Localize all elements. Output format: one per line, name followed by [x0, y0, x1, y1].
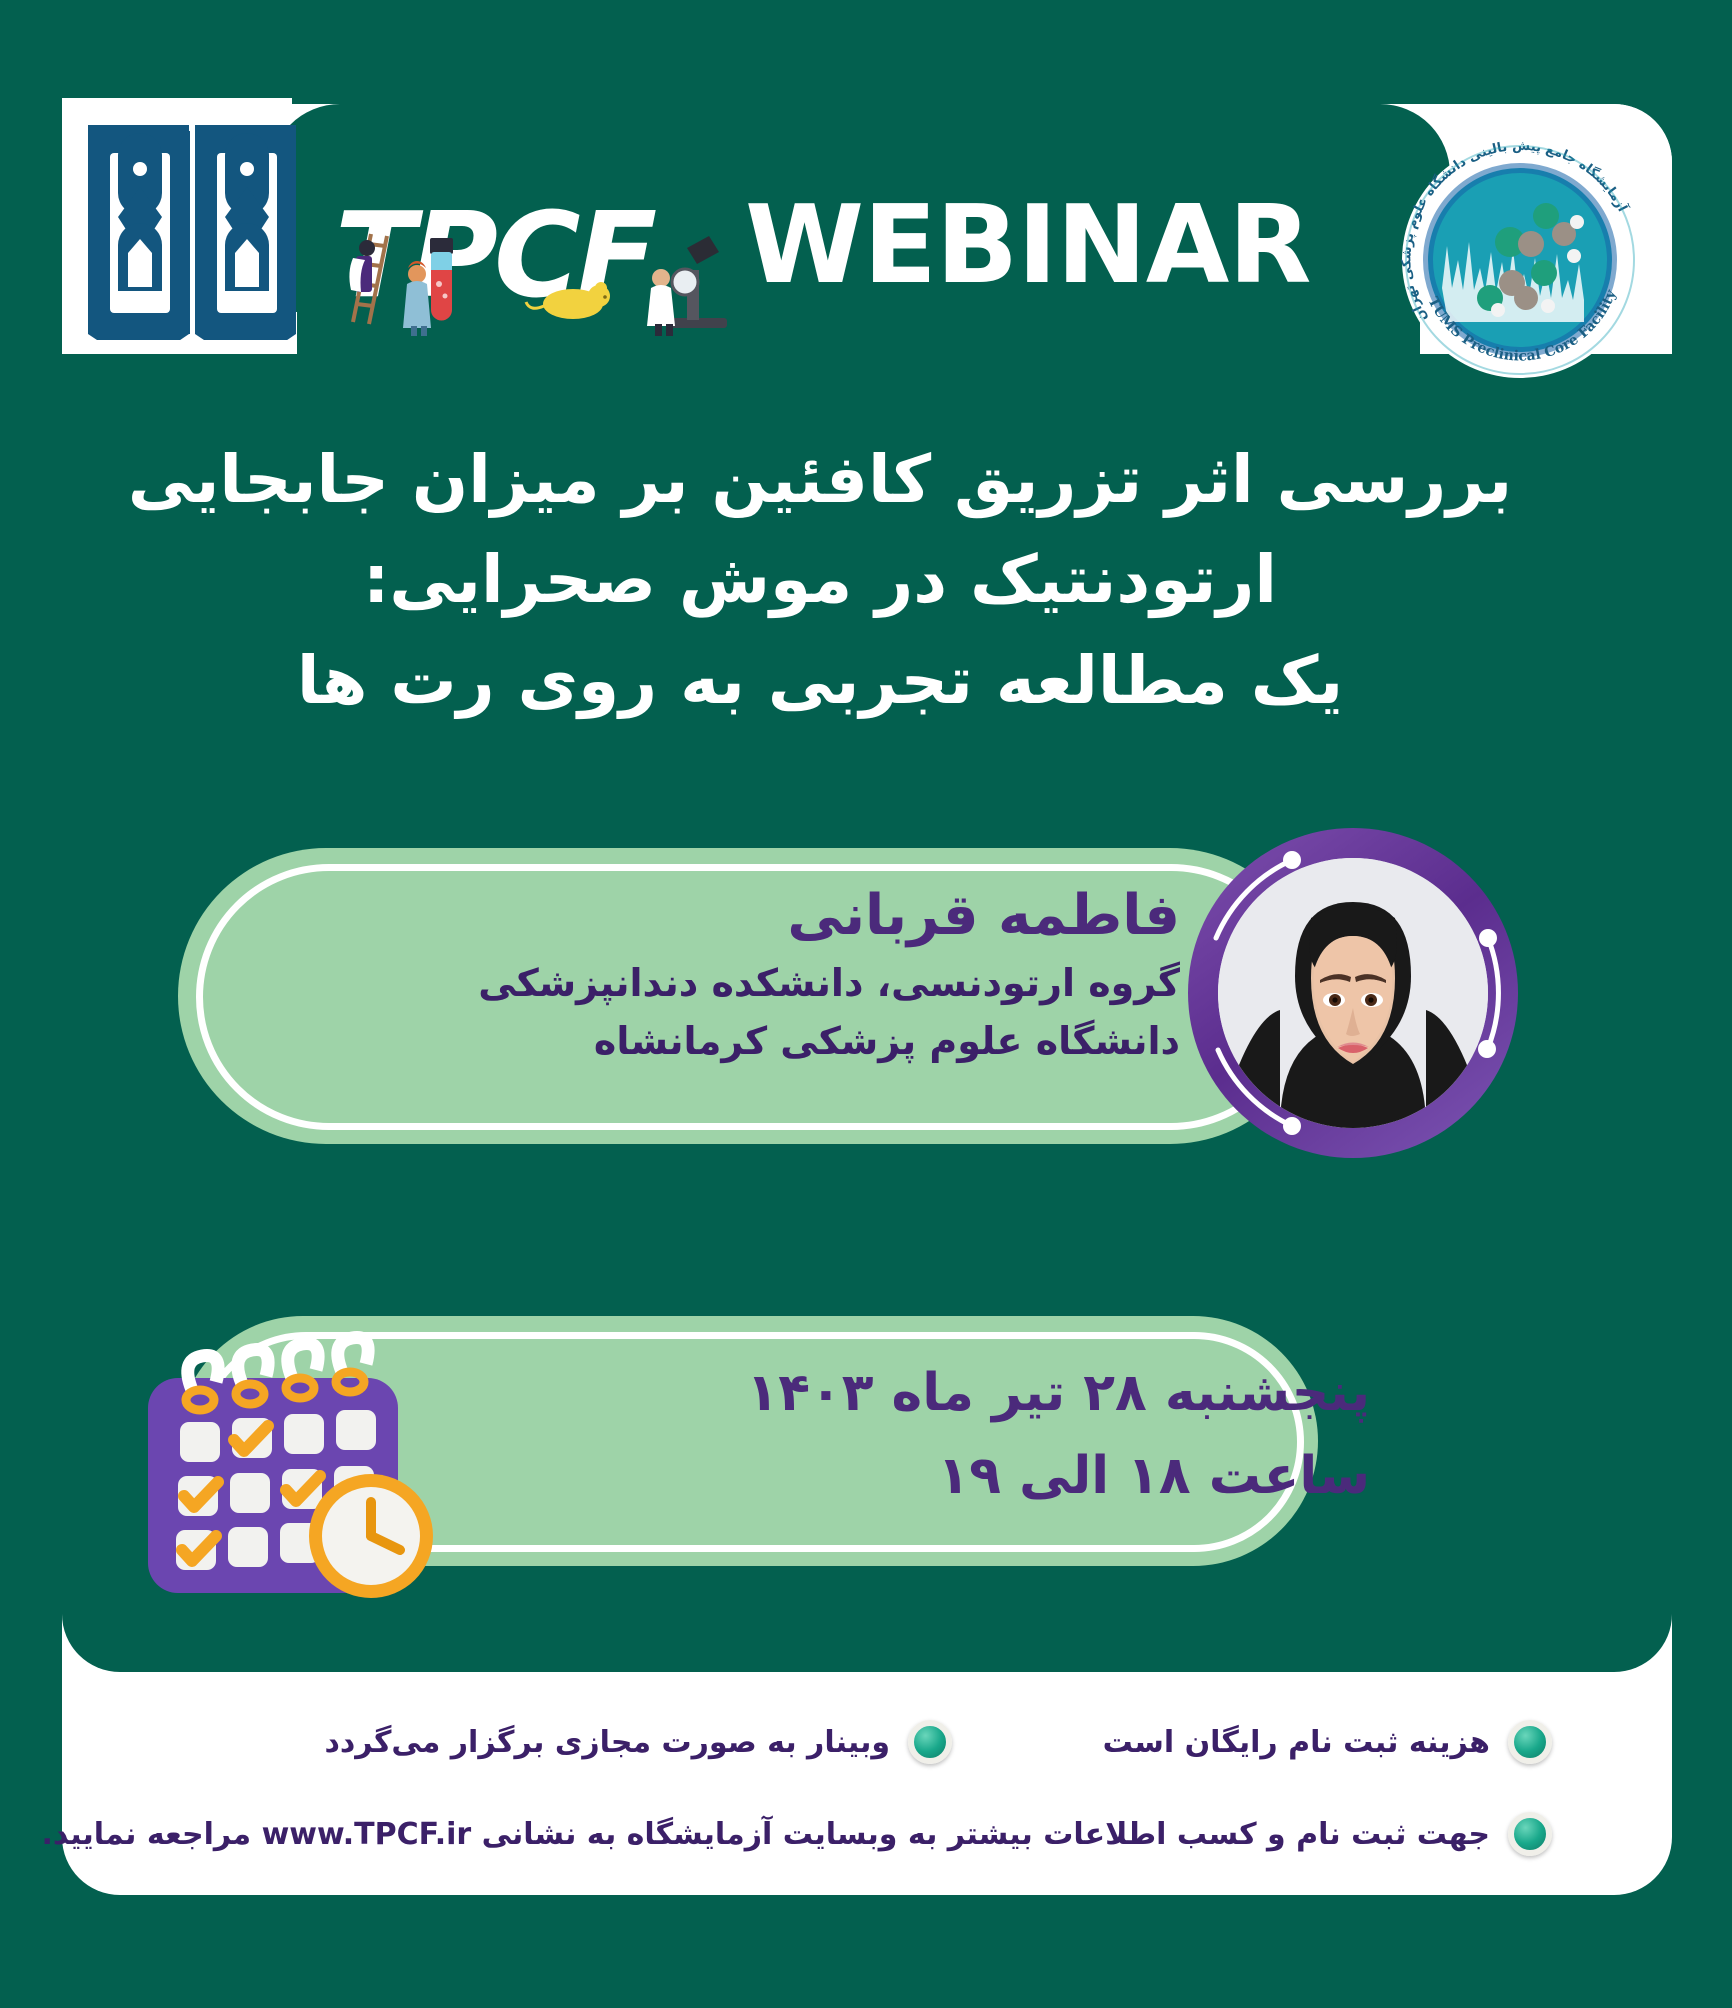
- tpcf-logo: TPCF: [335, 196, 735, 336]
- title-line-2: ارتودنتیک در موش صحرایی:: [110, 530, 1530, 630]
- tpcf-circular-logo-icon: آزمایشگاه جامع پیش بالینی دانشگاه علوم پ…: [1398, 138, 1643, 383]
- page-title: بررسی اثر تزریق کافئین بر میزان جابجایی …: [110, 430, 1530, 731]
- test-tube-icon: [430, 238, 453, 321]
- footer-note-virtual-text: وبینار به صورت مجازی برگزار می‌گردد: [325, 1725, 890, 1760]
- speaker-info: فاطمه قربانی گروه ارتودنسی، دانشکده دندا…: [440, 878, 1180, 1071]
- footer-note-virtual: وبینار به صورت مجازی برگزار می‌گردد: [325, 1720, 952, 1764]
- bullet-dot-icon: [908, 1720, 952, 1764]
- avatar-progress-arc: [1188, 828, 1518, 1158]
- schedule-info: پنجشنبه ۲۸ تیر ماه ۱۴۰۳ ساعت ۱۸ الی ۱۹: [520, 1352, 1370, 1518]
- title-line-3: یک مطالعه تجربی به روی رت ها: [110, 631, 1530, 731]
- scientist2-icon: [647, 269, 675, 336]
- footer-note-free-text: هزینه ثبت نام رایگان است: [1103, 1725, 1490, 1760]
- calendar-clock-icon: [128, 1318, 458, 1618]
- scientist-icon: [403, 261, 431, 336]
- event-time: ساعت ۱۸ الی ۱۹: [520, 1435, 1370, 1518]
- speaker-affiliation-line-1: گروه ارتودنسی، دانشکده دندانپزشکی: [440, 954, 1180, 1013]
- event-date: پنجشنبه ۲۸ تیر ماه ۱۴۰۳: [520, 1352, 1370, 1435]
- mouse-icon: [526, 282, 610, 319]
- avatar: [1188, 828, 1518, 1158]
- webinar-title: WEBINAR: [745, 192, 1311, 300]
- footer-note-register[interactable]: جهت ثبت نام و کسب اطلاعات بیشتر به وبسای…: [42, 1812, 1552, 1856]
- speaker-name: فاطمه قربانی: [440, 878, 1180, 954]
- bullet-dot-icon: [1508, 1812, 1552, 1856]
- tums-88-emblem-icon: [88, 125, 303, 340]
- speaker-affiliation-line-2: دانشگاه علوم پزشکی کرمانشاه: [440, 1012, 1180, 1071]
- bullet-dot-icon: [1508, 1720, 1552, 1764]
- footer-note-register-text[interactable]: جهت ثبت نام و کسب اطلاعات بیشتر به وبسای…: [42, 1817, 1490, 1852]
- footer-note-free: هزینه ثبت نام رایگان است: [1103, 1720, 1552, 1764]
- footer-notes: هزینه ثبت نام رایگان است وبینار به صورت …: [62, 1700, 1672, 1900]
- ladder-icon: [349, 234, 387, 324]
- microscope-icon: [671, 236, 727, 328]
- title-line-1: بررسی اثر تزریق کافئین بر میزان جابجایی: [110, 430, 1530, 530]
